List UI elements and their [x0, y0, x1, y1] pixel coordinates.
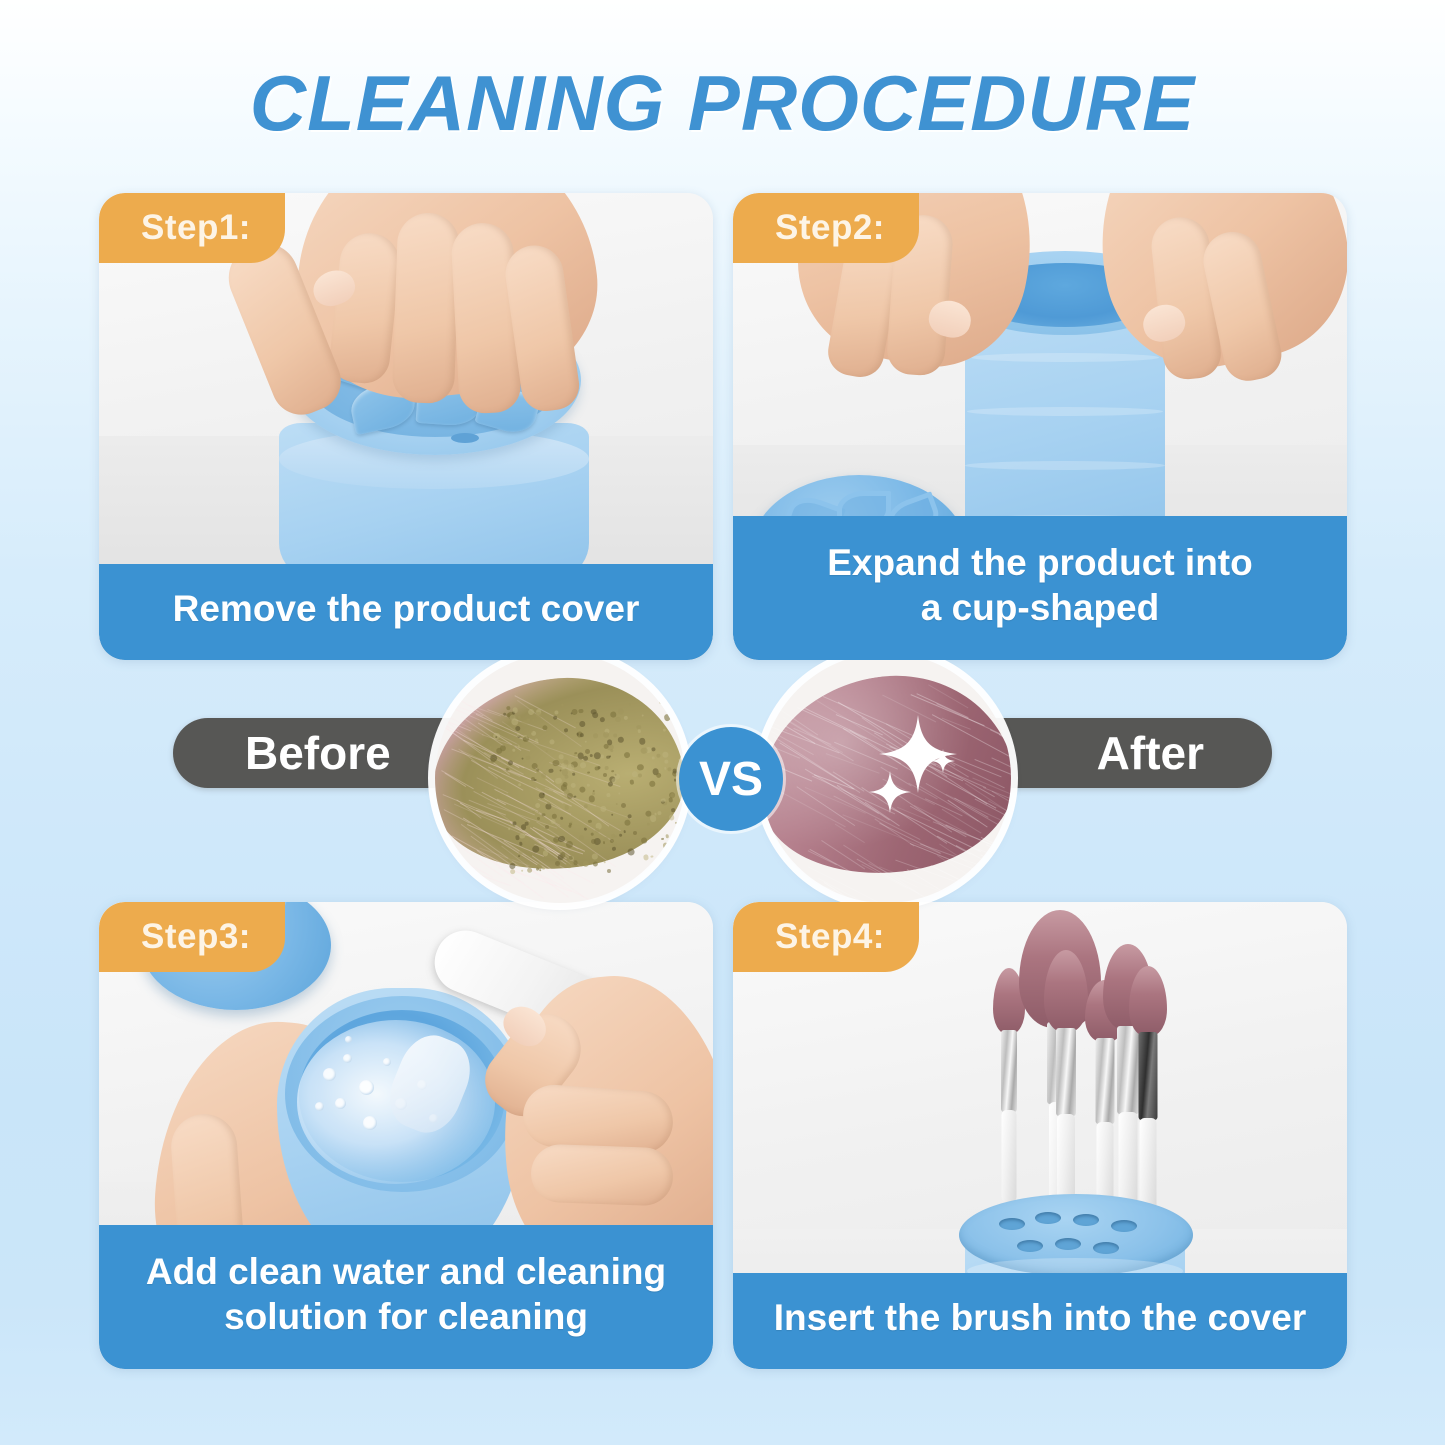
before-label: Before [245, 726, 391, 780]
vs-badge: VS [679, 727, 783, 831]
step-3-caption: Add clean water and cleaning solution fo… [99, 1225, 713, 1369]
step-2-caption: Expand the product into a cup-shaped [733, 516, 1347, 660]
step-card-4: Step4: Insert the brush into the cover [733, 902, 1347, 1369]
after-label: After [1097, 726, 1204, 780]
after-brush-image [761, 653, 1011, 903]
before-brush-image [435, 653, 685, 903]
infographic-page: CLEANING PROCEDURE [0, 0, 1445, 1445]
page-title: CLEANING PROCEDURE [0, 58, 1445, 149]
step-3-caption-line-2: solution for cleaning [146, 1294, 666, 1339]
step-4-caption: Insert the brush into the cover [733, 1273, 1347, 1369]
step-2-caption-line-1: Expand the product into [827, 540, 1252, 585]
step-2-caption-line-2: a cup-shaped [827, 585, 1252, 630]
step-card-2: Step2: Expand the product into a cup-sha… [733, 193, 1347, 660]
clean-brush-head [761, 658, 1011, 891]
step-1-caption-line-1: Remove the product cover [173, 586, 640, 631]
step-card-1: Step1: Remove the product cover [99, 193, 713, 660]
vs-label: VS [699, 752, 763, 807]
step-4-caption-line-1: Insert the brush into the cover [774, 1295, 1306, 1340]
dirty-brush-head [435, 662, 685, 885]
step-card-3: Step3: Add clean water and cleaning solu… [99, 902, 713, 1369]
step-3-badge: Step3: [99, 902, 285, 972]
step-3-caption-line-1: Add clean water and cleaning [146, 1249, 666, 1294]
step-1-badge: Step1: [99, 193, 285, 263]
step-2-badge: Step2: [733, 193, 919, 263]
step-1-caption: Remove the product cover [99, 564, 713, 660]
step-4-badge: Step4: [733, 902, 919, 972]
